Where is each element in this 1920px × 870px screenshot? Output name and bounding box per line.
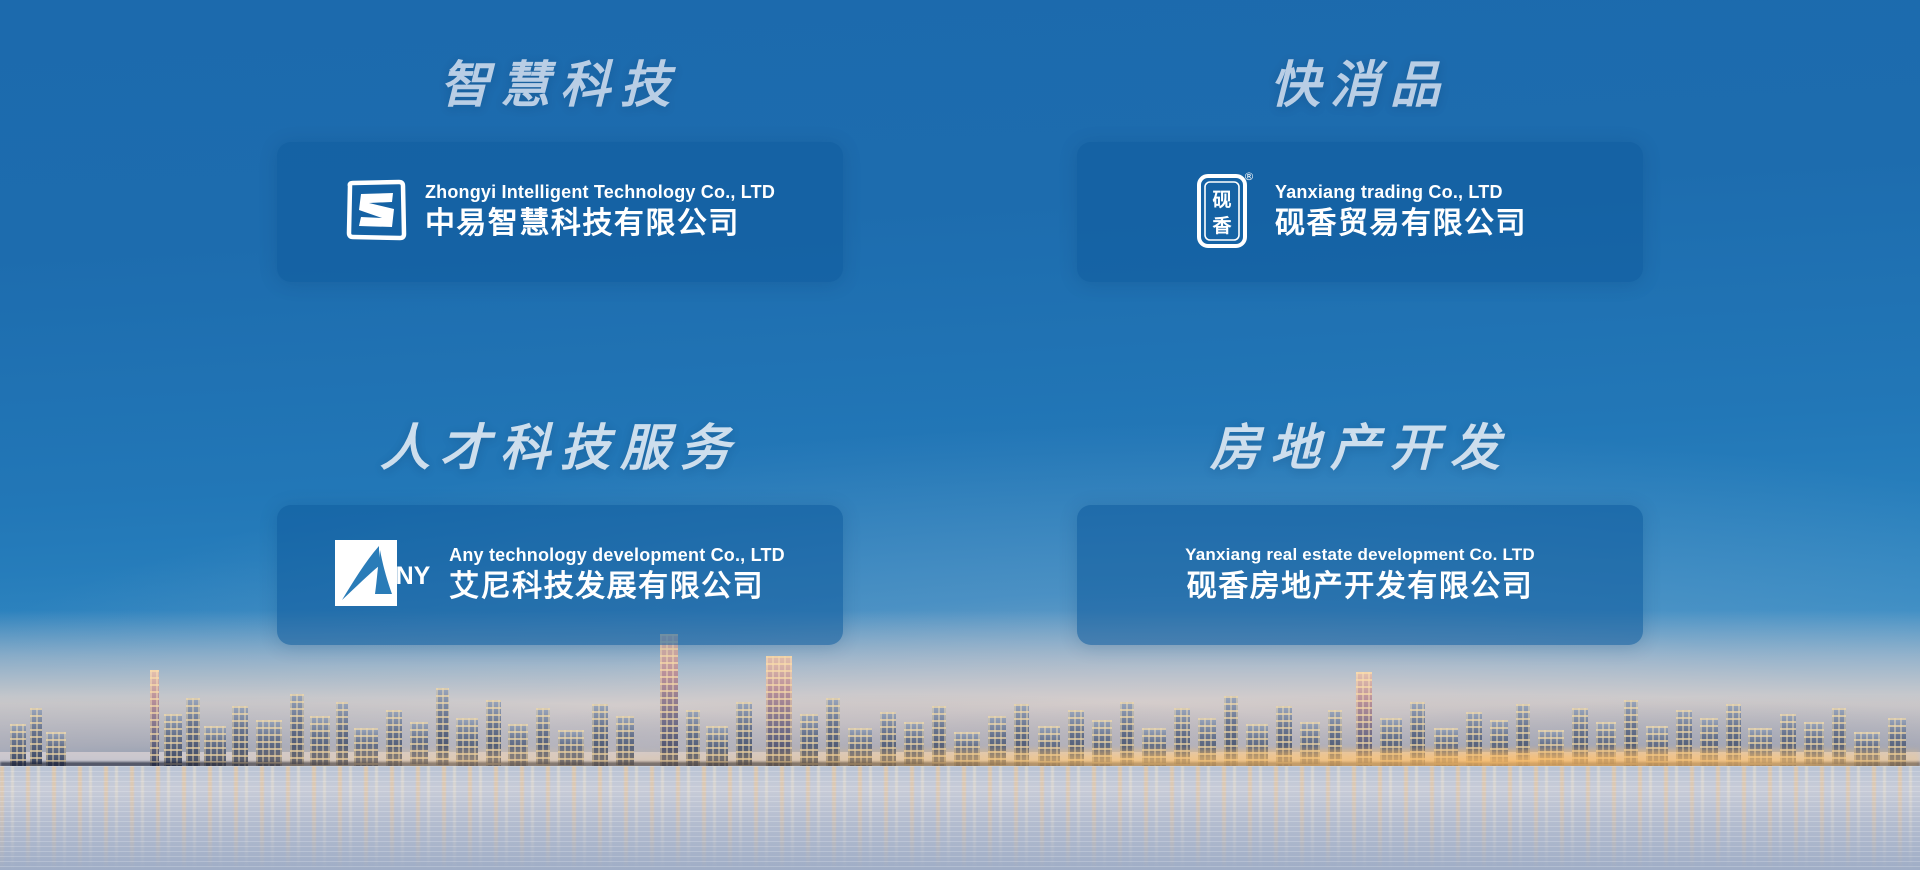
- company-name-cn-any: 艾尼科技发展有限公司: [449, 569, 785, 605]
- zhongyi-z-square-logo: [345, 179, 407, 246]
- company-name-en-any: Any technology development Co., LTD: [449, 545, 785, 566]
- sector-title-smart-technology: 智慧科技: [440, 60, 680, 110]
- sector-cell-fmcg: 快消品 砚 香 ® Yanxiang trading Co., LTD: [1040, 60, 1680, 395]
- any-mountain-square-logo: NY: [335, 540, 431, 611]
- seal-char-xiang: 香: [1211, 215, 1232, 237]
- page-stage: 智慧科技 Zhongyi Intelligent Technology Co.,…: [0, 0, 1920, 870]
- sector-title-fmcg: 快消品: [1270, 60, 1450, 110]
- seal-char-yan: 砚: [1212, 189, 1231, 211]
- sector-cell-smart-technology: 智慧科技 Zhongyi Intelligent Technology Co.,…: [240, 60, 880, 395]
- company-names-zhongyi: Zhongyi Intelligent Technology Co., LTD …: [425, 182, 775, 243]
- company-name-cn-zhongyi: 中易智慧科技有限公司: [425, 206, 775, 242]
- company-names-yanxiang-trading: Yanxiang trading Co., LTD 砚香贸易有限公司: [1275, 182, 1527, 243]
- sector-cell-talent-tech-services: 人才科技服务 NY Any technology development Co.…: [240, 405, 880, 740]
- company-names-yanxiang-real-estate: Yanxiang real estate development Co. LTD…: [1185, 545, 1535, 605]
- company-name-cn-yanxiang-trading: 砚香贸易有限公司: [1275, 206, 1527, 242]
- sector-title-talent-tech-services: 人才科技服务: [380, 423, 740, 473]
- company-card-yanxiang-real-estate[interactable]: Yanxiang real estate development Co. LTD…: [1077, 505, 1643, 645]
- company-names-any: Any technology development Co., LTD 艾尼科技…: [449, 545, 785, 606]
- company-card-yanxiang-trading[interactable]: 砚 香 ® Yanxiang trading Co., LTD 砚香贸易有限公司: [1077, 142, 1643, 282]
- sector-grid: 智慧科技 Zhongyi Intelligent Technology Co.,…: [0, 0, 1920, 870]
- registered-trademark-icon: ®: [1244, 170, 1255, 183]
- company-card-zhongyi[interactable]: Zhongyi Intelligent Technology Co., LTD …: [277, 142, 843, 282]
- company-name-en-zhongyi: Zhongyi Intelligent Technology Co., LTD: [425, 182, 775, 203]
- company-name-cn-yanxiang-real-estate: 砚香房地产开发有限公司: [1187, 569, 1534, 605]
- company-name-en-yanxiang-real-estate: Yanxiang real estate development Co. LTD: [1185, 545, 1535, 565]
- company-name-en-yanxiang-trading: Yanxiang trading Co., LTD: [1275, 182, 1527, 203]
- yanxiang-seal-logo: 砚 香 ®: [1193, 168, 1257, 257]
- any-logo-letters: NY: [396, 562, 431, 590]
- company-card-any[interactable]: NY Any technology development Co., LTD 艾…: [277, 505, 843, 645]
- sector-title-real-estate: 房地产开发: [1210, 423, 1510, 473]
- sector-cell-real-estate: 房地产开发 Yanxiang real estate development C…: [1040, 405, 1680, 740]
